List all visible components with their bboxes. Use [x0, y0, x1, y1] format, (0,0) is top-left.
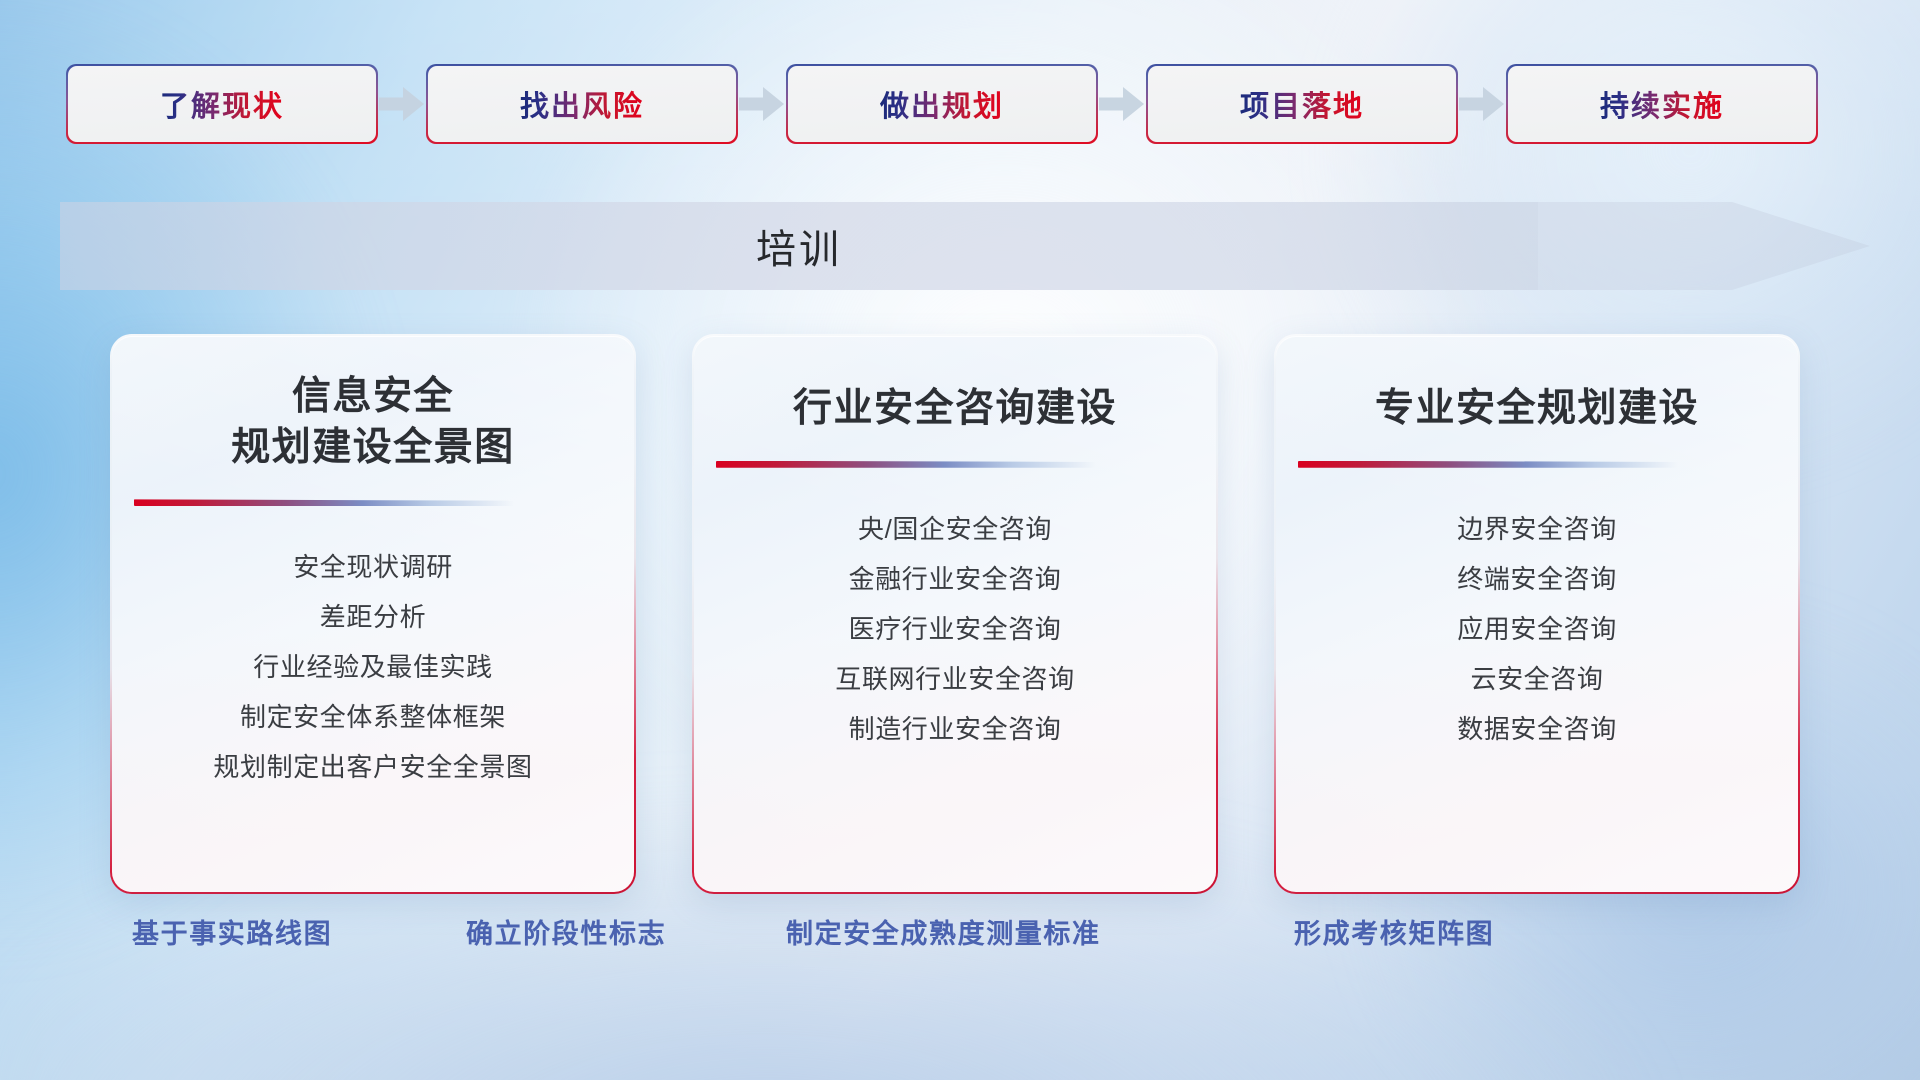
list-item: 边界安全咨询	[1457, 504, 1617, 554]
card-inner: 信息安全 规划建设全景图 安全现状调研 差距分析 行业经验及最佳实践 制定安全体…	[112, 336, 634, 892]
list-item: 差距分析	[320, 592, 426, 642]
list-item: 制定安全体系整体框架	[240, 692, 506, 742]
list-item: 应用安全咨询	[1457, 604, 1617, 654]
bottom-label-row: 基于事实路线图 确立阶段性标志 制定安全成熟度测量标准 形成考核矩阵图	[0, 912, 1920, 972]
training-banner-arrow: 培训	[60, 202, 1870, 290]
step-box-continuous-implementation[interactable]: 持续实施	[1508, 66, 1816, 142]
card-title: 专业安全规划建设	[1349, 384, 1725, 435]
card-list: 安全现状调研 差距分析 行业经验及最佳实践 制定安全体系整体框架 规划制定出客户…	[112, 542, 634, 792]
step-label: 持续实施	[1600, 83, 1724, 125]
arrow-right-icon	[376, 66, 428, 142]
card-divider	[716, 461, 1096, 468]
list-item: 终端安全咨询	[1457, 554, 1617, 604]
list-item: 云安全咨询	[1470, 654, 1603, 704]
list-item: 规划制定出客户安全全景图	[213, 742, 532, 792]
card-information-security-panorama[interactable]: 信息安全 规划建设全景图 安全现状调研 差距分析 行业经验及最佳实践 制定安全体…	[112, 336, 634, 892]
card-inner: 行业安全咨询建设 央/国企安全咨询 金融行业安全咨询 医疗行业安全咨询 互联网行…	[694, 336, 1216, 892]
list-item: 安全现状调研	[293, 542, 453, 592]
card-list: 边界安全咨询 终端安全咨询 应用安全咨询 云安全咨询 数据安全咨询	[1276, 504, 1798, 754]
card-title-line: 规划建设全景图	[231, 423, 515, 474]
list-item: 制造行业安全咨询	[849, 704, 1062, 754]
card-inner: 专业安全规划建设 边界安全咨询 终端安全咨询 应用安全咨询 云安全咨询 数据安全…	[1276, 336, 1798, 892]
step-label: 项目落地	[1240, 83, 1364, 125]
card-industry-security-consulting[interactable]: 行业安全咨询建设 央/国企安全咨询 金融行业安全咨询 医疗行业安全咨询 互联网行…	[694, 336, 1216, 892]
step-label: 了解现状	[160, 83, 284, 125]
arrow-right-icon	[736, 66, 788, 142]
step-box-make-plan[interactable]: 做出规划	[788, 66, 1096, 142]
bottom-label-milestones: 确立阶段性标志	[466, 912, 666, 951]
step-label: 找出风险	[520, 83, 644, 125]
list-item: 行业经验及最佳实践	[253, 642, 492, 692]
bottom-label-roadmap: 基于事实路线图	[132, 912, 332, 951]
cards-row: 信息安全 规划建设全景图 安全现状调研 差距分析 行业经验及最佳实践 制定安全体…	[0, 336, 1920, 892]
card-title: 行业安全咨询建设	[767, 384, 1143, 435]
step-box-find-risk[interactable]: 找出风险	[428, 66, 736, 142]
card-title: 信息安全 规划建设全景图	[205, 372, 541, 473]
process-step-row: 了解现状 找出风险 做出规划 项目落地	[0, 66, 1920, 142]
card-title-line: 专业安全规划建设	[1375, 384, 1699, 435]
bottom-label-maturity: 制定安全成熟度测量标准	[786, 912, 1101, 951]
step-wrap-3: 做出规划	[788, 66, 1148, 142]
training-label: 培训	[60, 202, 1538, 290]
step-wrap-1: 了解现状	[68, 66, 428, 142]
bottom-label-matrix: 形成考核矩阵图	[1294, 912, 1494, 951]
list-item: 互联网行业安全咨询	[835, 654, 1074, 704]
card-divider	[134, 499, 514, 506]
list-item: 金融行业安全咨询	[849, 554, 1062, 604]
arrow-right-icon	[1096, 66, 1148, 142]
step-wrap-5: 持续实施	[1508, 66, 1816, 142]
card-professional-security-planning[interactable]: 专业安全规划建设 边界安全咨询 终端安全咨询 应用安全咨询 云安全咨询 数据安全…	[1276, 336, 1798, 892]
arrow-right-icon	[1456, 66, 1508, 142]
step-box-understand-status[interactable]: 了解现状	[68, 66, 376, 142]
step-wrap-4: 项目落地	[1148, 66, 1508, 142]
card-title-line: 行业安全咨询建设	[793, 384, 1117, 435]
list-item: 数据安全咨询	[1457, 704, 1617, 754]
card-divider	[1298, 461, 1678, 468]
step-wrap-2: 找出风险	[428, 66, 788, 142]
step-label: 做出规划	[880, 83, 1004, 125]
card-title-line: 信息安全	[231, 372, 515, 423]
list-item: 央/国企安全咨询	[858, 504, 1052, 554]
card-list: 央/国企安全咨询 金融行业安全咨询 医疗行业安全咨询 互联网行业安全咨询 制造行…	[694, 504, 1216, 754]
step-box-project-landing[interactable]: 项目落地	[1148, 66, 1456, 142]
list-item: 医疗行业安全咨询	[849, 604, 1062, 654]
